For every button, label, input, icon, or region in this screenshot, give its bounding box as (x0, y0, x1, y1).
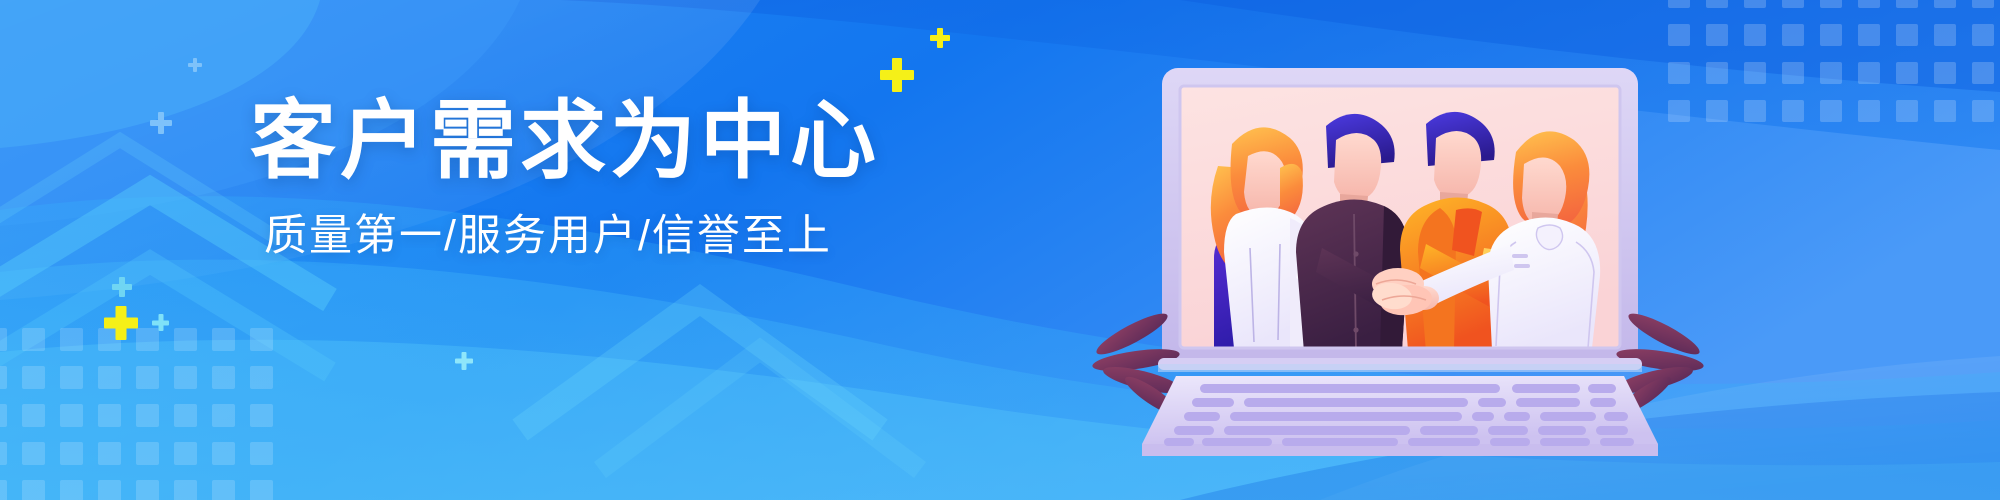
plus-yellow-bottom-left-icon (104, 306, 138, 340)
plus-cyan-upper-left-icon (112, 277, 132, 297)
plus-cyan-top-small-icon (188, 58, 202, 72)
promo-banner: 客户需求为中心 质量第一/服务用户/信誉至上 (0, 0, 2000, 500)
laptop-team-illustration (1140, 48, 1660, 468)
banner-copy: 客户需求为中心 质量第一/服务用户/信誉至上 (250, 96, 890, 260)
plus-cyan-lower-mid-icon (455, 352, 473, 370)
plus-yellow-small-icon (930, 28, 950, 48)
plus-cyan-top-mid-icon (150, 112, 172, 134)
plus-yellow-large-icon (880, 58, 914, 92)
plus-cyan-bottom-left-icon (152, 314, 169, 331)
page-title: 客户需求为中心 (250, 96, 890, 187)
banner-subtitle: 质量第一/服务用户/信誉至上 (264, 213, 890, 260)
decor-grid-top-right (1668, 0, 2000, 138)
decor-grid-bottom-left (0, 328, 288, 500)
